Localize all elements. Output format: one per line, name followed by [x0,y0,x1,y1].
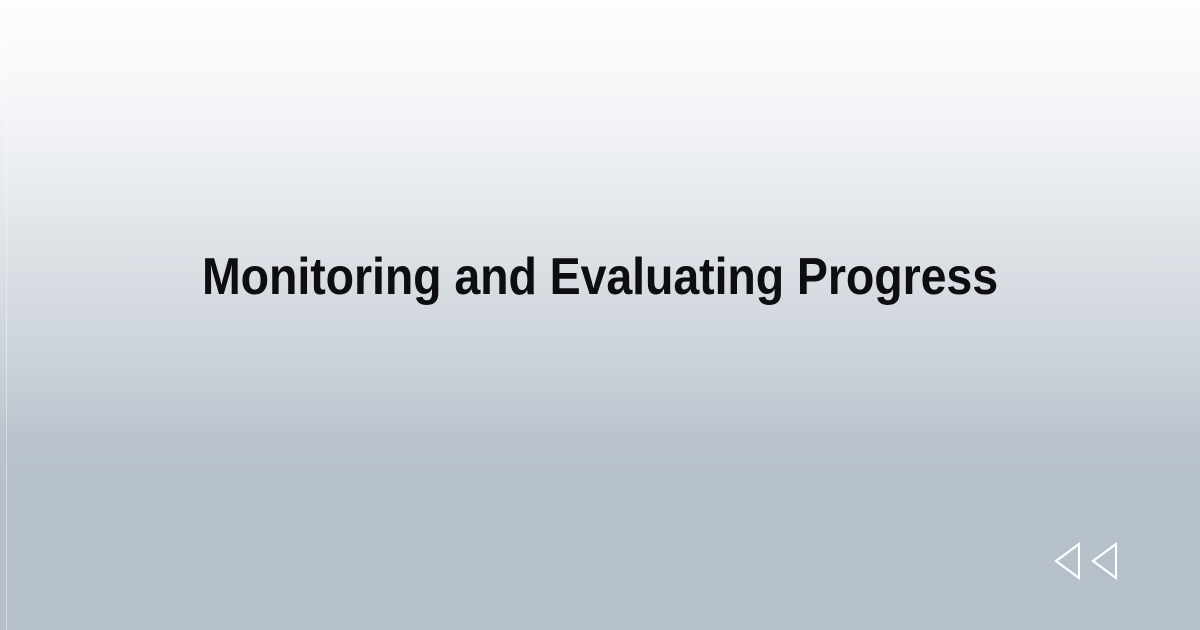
slide-navigation-controls [1054,540,1134,582]
triangle-left-outline-icon [1091,542,1119,580]
triangle-left-outline-icon [1054,542,1082,580]
title-block: Monitoring and Evaluating Progress [0,248,1200,306]
first-slide-arrow[interactable] [1054,542,1082,580]
slide-canvas: Monitoring and Evaluating Progress [0,0,1200,630]
slide-title: Monitoring and Evaluating Progress [197,248,1003,306]
slide-edge-seam [6,0,7,630]
previous-slide-arrow[interactable] [1091,542,1119,580]
